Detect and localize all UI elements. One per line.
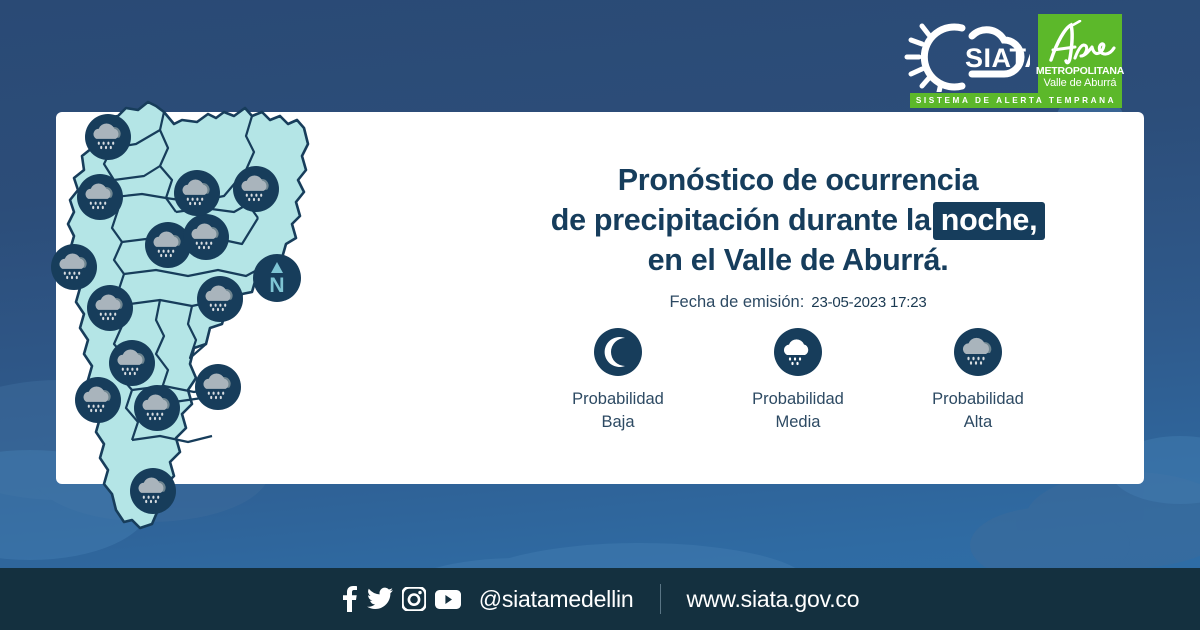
instagram-icon[interactable]: [402, 587, 426, 611]
map-marker-alta[interactable]: [183, 214, 229, 260]
map-marker-alta[interactable]: [195, 364, 241, 410]
moon-icon: [594, 328, 642, 376]
social-icons: [341, 586, 461, 612]
map-marker-alta[interactable]: [87, 285, 133, 331]
legend-alta-line2: Alta: [964, 413, 992, 431]
map-marker-alta[interactable]: [197, 276, 243, 322]
headline-block: Pronóstico de ocurrencia de precipitació…: [468, 160, 1128, 312]
headline-line2: de precipitación durante lanoche,: [468, 200, 1128, 240]
area-metropolitana-block: METROPOLITANA Valle de Aburrá: [1038, 14, 1122, 94]
map-marker-alta[interactable]: [130, 468, 176, 514]
legend-label-baja: Probabilidad Baja: [572, 388, 664, 434]
footer-divider: [660, 584, 661, 614]
emission-label: Fecha de emisión:: [669, 293, 804, 312]
legend-label-alta: Probabilidad Alta: [932, 388, 1024, 434]
map-marker-alta[interactable]: [233, 166, 279, 212]
facebook-icon[interactable]: [341, 586, 358, 612]
map-container: N: [56, 52, 376, 562]
legend-baja-line1: Probabilidad: [572, 390, 664, 408]
compass-north-icon: N: [253, 254, 301, 302]
area-metropolitana-logo: METROPOLITANA Valle de Aburrá: [1038, 14, 1122, 94]
siata-wordmark: SIATA: [965, 43, 1030, 73]
social-handle[interactable]: @siatamedellin: [479, 586, 634, 613]
map-marker-alta[interactable]: [75, 377, 121, 423]
legend-label-media: Probabilidad Media: [752, 388, 844, 434]
headline-line1: Pronóstico de ocurrencia: [468, 160, 1128, 200]
map-marker-alta[interactable]: [77, 174, 123, 220]
headline-line2-text: de precipitación durante la: [551, 203, 931, 237]
legend-item-baja: Probabilidad Baja: [528, 328, 708, 434]
youtube-icon[interactable]: [435, 590, 461, 609]
headline-highlight-noche: noche,: [933, 202, 1046, 240]
legend: Probabilidad Baja Probabilidad Media: [468, 328, 1128, 434]
map-marker-alta[interactable]: [85, 114, 131, 160]
footer-bar: @siatamedellin www.siata.gov.co: [0, 568, 1200, 630]
map-marker-alta[interactable]: [174, 170, 220, 216]
legend-item-media: Probabilidad Media: [708, 328, 888, 434]
area-line2: Valle de Aburrá: [1044, 77, 1117, 89]
legend-baja-line2: Baja: [601, 413, 634, 431]
website-url[interactable]: www.siata.gov.co: [687, 586, 860, 613]
page-title: Pronóstico de ocurrencia de precipitació…: [468, 160, 1128, 280]
legend-alta-line1: Probabilidad: [932, 390, 1024, 408]
logo-group: SIATA METROPOLITANA Valle de Aburrá: [902, 14, 1122, 94]
cloud-rain-moon-icon: [774, 328, 822, 376]
infographic-root: SIATA METROPOLITANA Valle de Aburrá SIST…: [0, 0, 1200, 630]
cloud-rain-icon: [954, 328, 1002, 376]
map-marker-alta[interactable]: [51, 244, 97, 290]
tagline-bar: SISTEMA DE ALERTA TEMPRANA: [910, 93, 1122, 108]
siata-logo: SIATA: [902, 14, 1030, 92]
twitter-icon[interactable]: [367, 587, 393, 611]
legend-item-alta: Probabilidad Alta: [888, 328, 1068, 434]
area-line1: METROPOLITANA: [1036, 66, 1124, 77]
area-script-icon: [1043, 20, 1117, 65]
emission-value: 23-05-2023 17:23: [811, 294, 926, 311]
compass-label: N: [269, 274, 284, 297]
legend-media-line2: Media: [776, 413, 821, 431]
legend-media-line1: Probabilidad: [752, 390, 844, 408]
headline-line3: en el Valle de Aburrá.: [468, 240, 1128, 280]
map-marker-alta[interactable]: [134, 385, 180, 431]
emission-date-row: Fecha de emisión: 23-05-2023 17:23: [468, 293, 1128, 312]
